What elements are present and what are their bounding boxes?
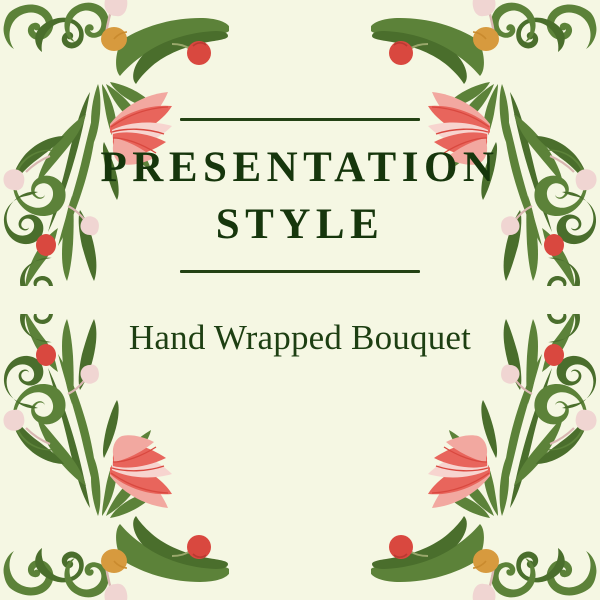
page-subtitle: Hand Wrapped Bouquet — [0, 316, 600, 361]
page-title: PRESENTATION STYLE — [0, 140, 600, 254]
presentation-style-card: PRESENTATION STYLE Hand Wrapped Bouquet — [0, 0, 600, 600]
pale-pink-bud-top — [104, 0, 127, 16]
red-berry-top — [187, 41, 211, 65]
title-plate: PRESENTATION STYLE Hand Wrapped Bouquet — [0, 118, 600, 360]
divider-rule-bottom — [180, 270, 420, 273]
gold-berry — [101, 27, 127, 51]
divider-rule-top — [180, 118, 420, 121]
